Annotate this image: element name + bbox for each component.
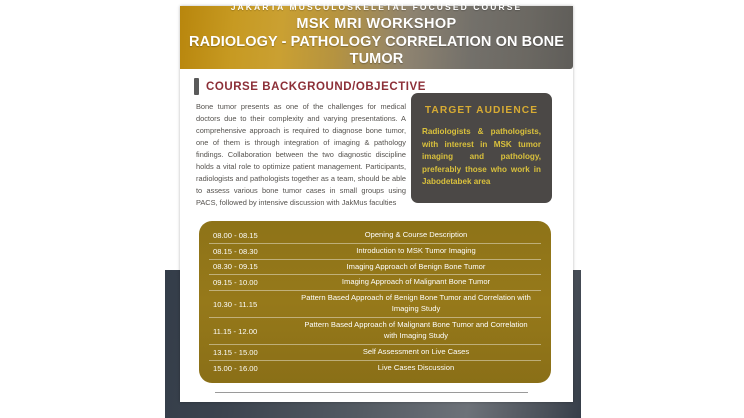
schedule-row-topic: Imaging Approach of Benign Bone Tumor [295,262,541,273]
section-heading: COURSE BACKGROUND/OBJECTIVE [194,78,426,95]
schedule-table: 08.00 - 08.15Opening & Course Descriptio… [199,221,551,383]
schedule-row: 08.00 - 08.15Opening & Course Descriptio… [209,228,541,244]
schedule-row: 09.15 - 10.00Imaging Approach of Maligna… [209,275,541,291]
schedule-row: 11.15 - 12.00Pattern Based Approach of M… [209,318,541,345]
schedule-row: 10.30 - 11.15Pattern Based Approach of B… [209,291,541,318]
target-audience-body: Radiologists & pathologists, with intere… [422,126,541,189]
schedule-row-topic: Live Cases Discussion [295,363,541,374]
schedule-row-time: 15.00 - 16.00 [209,364,295,373]
schedule-row-time: 08.00 - 08.15 [209,231,295,240]
schedule-row-topic: Pattern Based Approach of Benign Bone Tu… [295,293,541,315]
schedule-row-time: 13.15 - 15.00 [209,348,295,357]
slide-stage: JAKARTA MUSCULOSKELETAL FOCUSED COURSE M… [0,0,744,418]
schedule-row-time: 08.15 - 08.30 [209,247,295,256]
section-title: COURSE BACKGROUND/OBJECTIVE [206,81,426,93]
schedule-row-topic: Pattern Based Approach of Malignant Bone… [295,320,541,342]
schedule-row: 15.00 - 16.00Live Cases Discussion [209,361,541,376]
schedule-row-topic: Self Assessment on Live Cases [295,347,541,358]
schedule-row-time: 10.30 - 11.15 [209,300,295,309]
schedule-row-topic: Imaging Approach of Malignant Bone Tumor [295,277,541,288]
footer-divider [215,392,528,393]
section-accent-bar-icon [194,78,199,95]
schedule-row-topic: Introduction to MSK Tumor Imaging [295,246,541,257]
banner-subtitle: RADIOLOGY - PATHOLOGY CORRELATION ON BON… [186,34,567,68]
target-audience-heading: TARGET AUDIENCE [422,105,541,116]
schedule-row: 08.30 - 09.15Imaging Approach of Benign … [209,260,541,276]
course-objective-paragraph: Bone tumor presents as one of the challe… [196,101,406,209]
flyer-page: JAKARTA MUSCULOSKELETAL FOCUSED COURSE M… [180,6,573,402]
schedule-row-topic: Opening & Course Description [295,230,541,241]
header-banner: JAKARTA MUSCULOSKELETAL FOCUSED COURSE M… [180,6,573,69]
schedule-row-time: 11.15 - 12.00 [209,327,295,336]
schedule-row-time: 09.15 - 10.00 [209,278,295,287]
schedule-row: 08.15 - 08.30Introduction to MSK Tumor I… [209,244,541,260]
banner-eyebrow: JAKARTA MUSCULOSKELETAL FOCUSED COURSE [231,3,523,13]
target-audience-card: TARGET AUDIENCE Radiologists & pathologi… [411,93,552,203]
schedule-row-time: 08.30 - 09.15 [209,262,295,271]
schedule-row: 13.15 - 15.00Self Assessment on Live Cas… [209,345,541,361]
banner-title: MSK MRI WORKSHOP [296,16,456,33]
